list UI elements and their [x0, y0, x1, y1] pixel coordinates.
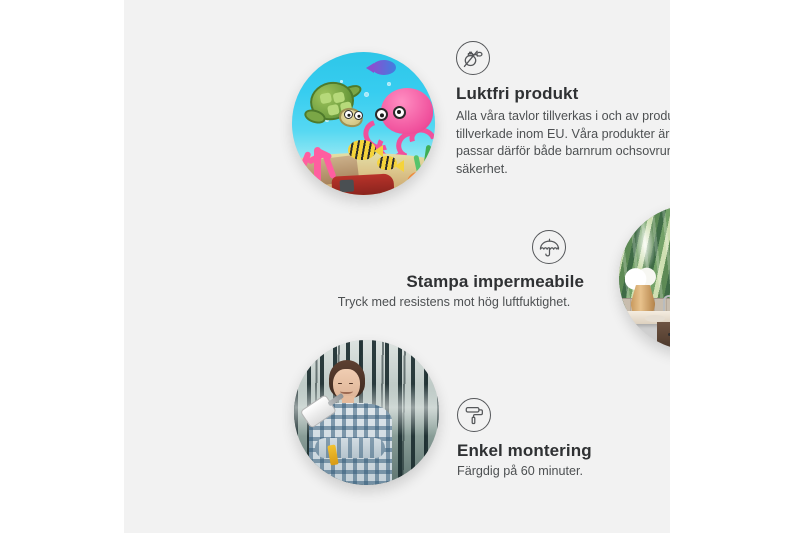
sea-turtle-illustration: [306, 82, 366, 130]
feature-title: Enkel montering: [457, 441, 670, 461]
faucet: [663, 295, 671, 311]
bathroom-photo: [619, 205, 670, 350]
no-odor-spray-bottle-icon: [456, 41, 490, 75]
feature-odor-free: Luktfri produkt Alla våra tavlor tillver…: [456, 41, 670, 178]
bathroom-botanical-circle: [619, 205, 670, 350]
feature-title: Luktfri produkt: [456, 84, 670, 104]
folded-arms: [315, 438, 385, 458]
feature-description: Alla våra tavlor tillverkas i och av pro…: [456, 108, 670, 178]
shipwreck-illustration: [331, 173, 394, 195]
woman-figure: [306, 360, 396, 485]
underwater-artwork: [292, 52, 435, 195]
yellow-fish-illustration: [348, 140, 376, 160]
bubble-icon: [387, 82, 391, 86]
blue-fish-illustration: [372, 60, 396, 75]
paint-roller-icon: [457, 398, 491, 432]
underwater-cartoon-circle: [292, 52, 435, 195]
umbrella-icon: [532, 230, 566, 264]
wood-vanity-cabinet: [657, 322, 670, 350]
drawer-handle: [668, 333, 670, 336]
content-panel: Luktfri produkt Alla våra tavlor tillver…: [124, 0, 670, 533]
woman-paint-roller-circle: [294, 340, 439, 485]
feature-description: Färgdig på 60 minuter.: [457, 463, 670, 481]
forest-mural-photo: [294, 340, 439, 485]
feature-title: Stampa impermeabile: [320, 272, 588, 292]
feature-easy-mounting: Enkel montering Färgdig på 60 minuter.: [457, 398, 670, 481]
feature-waterproof-print: Stampa impermeabile Tryck med resistens …: [320, 230, 588, 312]
product-feature-infographic: Luktfri produkt Alla våra tavlor tillver…: [0, 0, 800, 533]
feature-description: Tryck med resistens mot hög luftfuktighe…: [320, 294, 588, 312]
yellow-fish-illustration: [377, 156, 397, 170]
